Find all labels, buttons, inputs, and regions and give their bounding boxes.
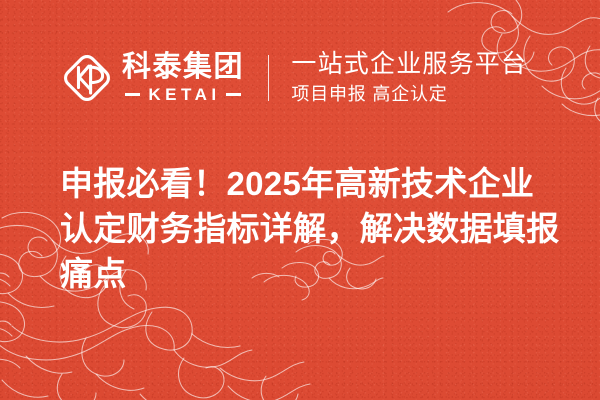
- vertical-divider: [268, 55, 269, 101]
- brand-logo[interactable]: 科泰集团 KETAI: [60, 51, 244, 105]
- logo-dash-left: [125, 93, 140, 96]
- tagline-primary: 一站式企业服务平台: [291, 50, 527, 79]
- ketai-diamond-kp-monogram-icon: [60, 51, 114, 105]
- logo-dash-right: [226, 93, 241, 96]
- logo-company-name-en: KETAI: [140, 86, 225, 103]
- logo-company-name-cn: 科泰集团: [122, 53, 244, 83]
- promo-banner: 科泰集团 KETAI 一站式企业服务平台 项目申报 高企认定 申报必看！2025…: [0, 0, 600, 400]
- logo-company-name-en-row: KETAI: [122, 86, 244, 103]
- banner-header: 科泰集团 KETAI 一站式企业服务平台 项目申报 高企认定: [60, 44, 527, 112]
- tagline-block: 一站式企业服务平台 项目申报 高企认定: [291, 50, 527, 106]
- page-title: 申报必看！2025年高新技术企业认定财务指标详解，解决数据填报痛点: [60, 161, 560, 297]
- tagline-secondary: 项目申报 高企认定: [291, 83, 527, 106]
